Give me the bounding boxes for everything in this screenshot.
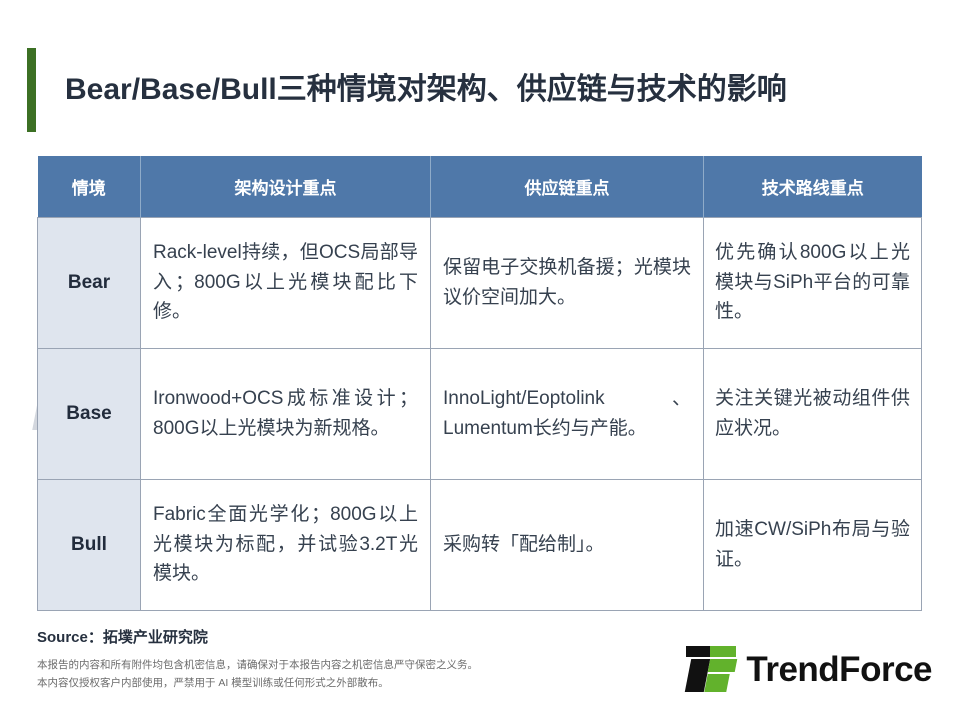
table-row: Base Ironwood+OCS成标准设计；800G以上光模块为新规格。 In…	[38, 348, 922, 479]
title-accent-bar	[27, 48, 36, 132]
cell-bull-technology: 加速CW/SiPh布局与验证。	[704, 479, 922, 610]
cell-base-supply-chain: InnoLight/Eoptolink、Lumentum长约与产能。	[431, 348, 704, 479]
row-label-bear: Bear	[38, 217, 141, 348]
column-header-architecture: 架构设计重点	[141, 156, 431, 217]
cell-bear-supply-chain: 保留电子交换机备援；光模块议价空间加大。	[431, 217, 704, 348]
trendforce-wordmark: TrendForce	[746, 652, 932, 687]
cell-base-technology: 关注关键光被动组件供应状况。	[704, 348, 922, 479]
source-label: Source：拓墣产业研究院	[37, 626, 923, 647]
cell-bull-supply-chain: 采购转「配给制」。	[431, 479, 704, 610]
table-row: Bear Rack-level持续，但OCS局部导入；800G以上光模块配比下修…	[38, 217, 922, 348]
cell-bear-technology: 优先确认800G以上光模块与SiPh平台的可靠性。	[704, 217, 922, 348]
row-label-bull: Bull	[38, 479, 141, 610]
cell-base-architecture: Ironwood+OCS成标准设计；800G以上光模块为新规格。	[141, 348, 431, 479]
column-header-scenario: 情境	[38, 156, 141, 217]
column-header-technology: 技术路线重点	[704, 156, 922, 217]
scenario-impact-table: 情境 架构设计重点 供应链重点 技术路线重点 Bear Rack-level持续…	[37, 156, 922, 611]
cell-bear-architecture: Rack-level持续，但OCS局部导入；800G以上光模块配比下修。	[141, 217, 431, 348]
cell-bull-architecture: Fabric全面光学化；800G以上光模块为标配，并试验3.2T光模块。	[141, 479, 431, 610]
page-title: Bear/Base/Bull三种情境对架构、供应链与技术的影响	[65, 72, 787, 108]
row-label-base: Base	[38, 348, 141, 479]
column-header-supply-chain: 供应链重点	[431, 156, 704, 217]
title-bar: Bear/Base/Bull三种情境对架构、供应链与技术的影响	[27, 48, 927, 132]
table-header-row: 情境 架构设计重点 供应链重点 技术路线重点	[38, 156, 922, 217]
trendforce-logo: TrendForce	[686, 646, 932, 692]
trendforce-logo-icon	[686, 646, 736, 692]
table-row: Bull Fabric全面光学化；800G以上光模块为标配，并试验3.2T光模块…	[38, 479, 922, 610]
